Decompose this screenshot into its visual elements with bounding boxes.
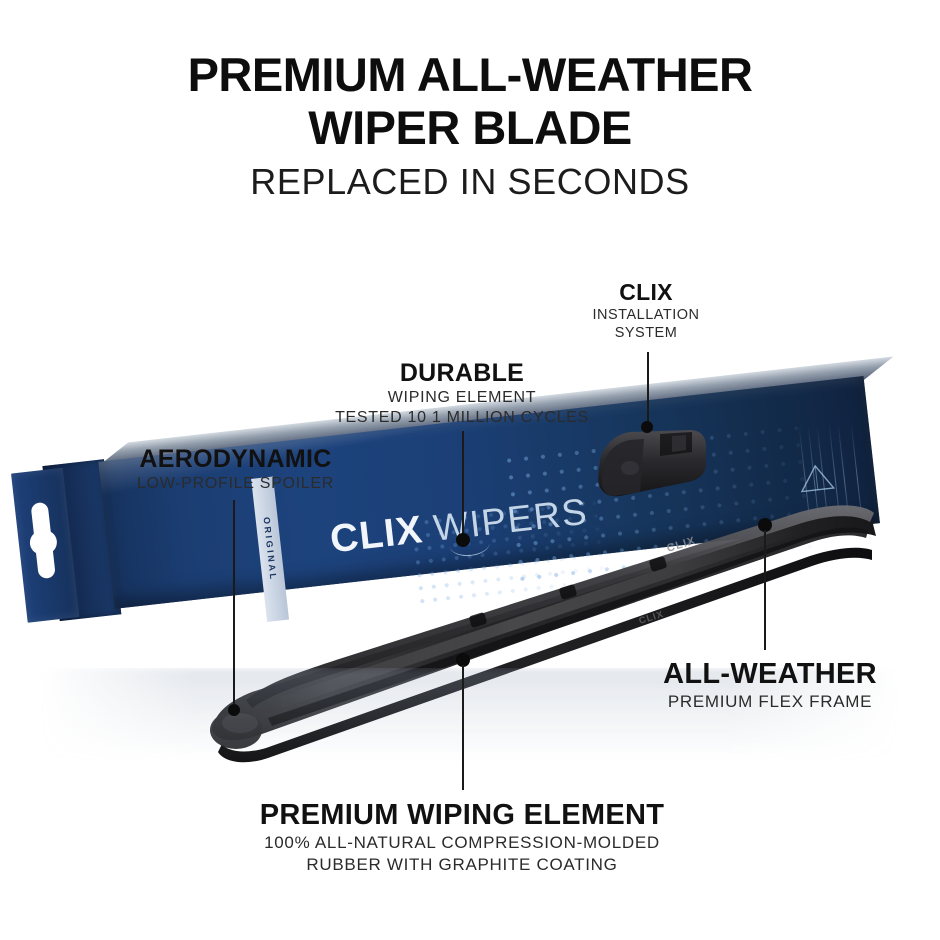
callout-wiping-element-sub-1: 100% ALL-NATURAL COMPRESSION-MOLDED xyxy=(212,832,712,854)
clix-connector xyxy=(598,430,706,496)
headline-line-1: PREMIUM ALL-WEATHER xyxy=(0,48,940,101)
callout-clix-title: CLIX xyxy=(536,278,756,306)
product-infographic: PREMIUM ALL-WEATHER WIPER BLADE REPLACED… xyxy=(0,0,940,940)
leader-line-durable xyxy=(462,431,464,535)
leader-dot-aerodynamic xyxy=(228,704,240,716)
callout-wiping-element: PREMIUM WIPING ELEMENT 100% ALL-NATURAL … xyxy=(212,798,712,876)
callout-clix-sub-2: SYSTEM xyxy=(536,324,756,342)
callout-clix-sub-1: INSTALLATION xyxy=(536,306,756,324)
callout-clix: CLIX INSTALLATION SYSTEM xyxy=(536,278,756,342)
callout-durable-sub-2: TESTED 10 1 MILLION CYCLES xyxy=(322,408,602,428)
leader-line-all-weather xyxy=(764,530,766,650)
leader-line-aerodynamic xyxy=(233,500,235,710)
callout-all-weather-title: ALL-WEATHER xyxy=(625,657,915,691)
leader-line-wiping-element xyxy=(462,665,464,790)
svg-text:CLIX: CLIX xyxy=(638,609,666,627)
leader-dot-durable xyxy=(456,533,470,547)
callout-wiping-element-title: PREMIUM WIPING ELEMENT xyxy=(212,798,712,832)
callout-durable: DURABLE WIPING ELEMENT TESTED 10 1 MILLI… xyxy=(322,358,602,428)
callout-all-weather: ALL-WEATHER PREMIUM FLEX FRAME xyxy=(625,657,915,713)
headline-line-2: WIPER BLADE xyxy=(0,101,940,154)
callout-aerodynamic-title: AERODYNAMIC xyxy=(93,444,378,474)
callout-durable-sub-1: WIPING ELEMENT xyxy=(322,388,602,408)
callout-durable-title: DURABLE xyxy=(322,358,602,388)
callout-aerodynamic-sub-1: LOW-PROFILE SPOILER xyxy=(93,474,378,494)
subheadline: REPLACED IN SECONDS xyxy=(0,162,940,202)
callout-wiping-element-sub-2: RUBBER WITH GRAPHITE COATING xyxy=(212,854,712,876)
leader-dot-clix xyxy=(641,421,653,433)
leader-line-clix xyxy=(647,352,649,424)
page-title: PREMIUM ALL-WEATHER WIPER BLADE xyxy=(0,48,940,154)
callout-aerodynamic: AERODYNAMIC LOW-PROFILE SPOILER xyxy=(93,444,378,494)
callout-all-weather-sub-1: PREMIUM FLEX FRAME xyxy=(625,691,915,713)
